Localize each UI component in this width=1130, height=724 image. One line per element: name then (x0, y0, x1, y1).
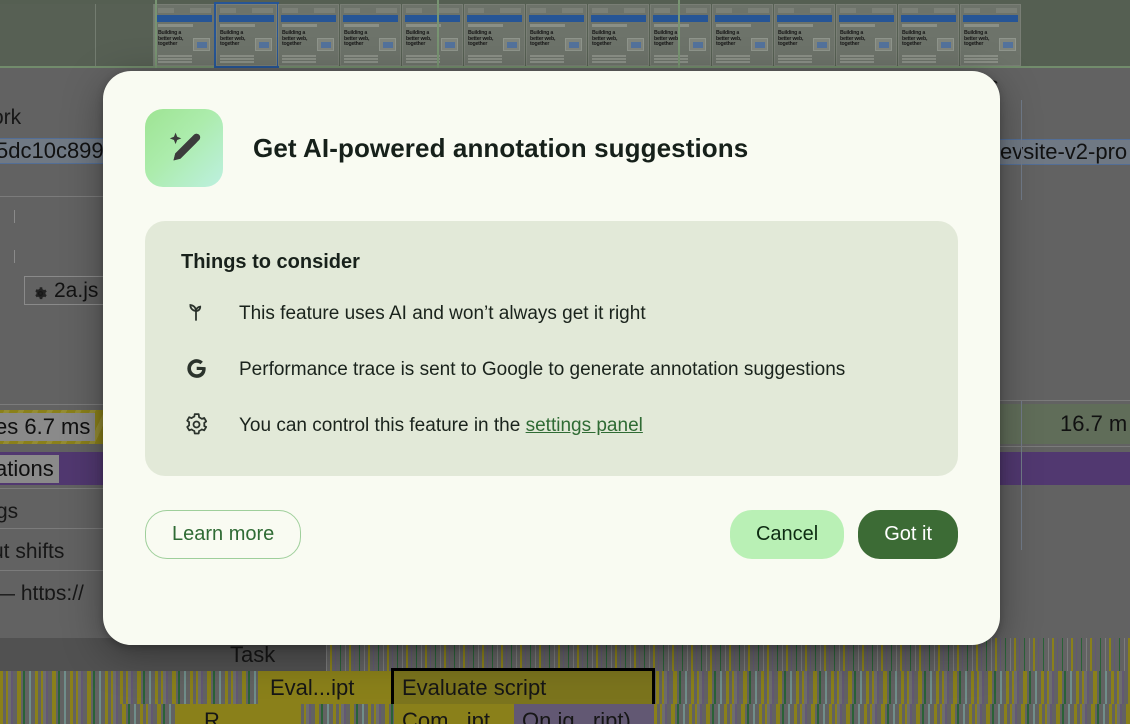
list-item-text: This feature uses AI and won’t always ge… (239, 298, 646, 330)
list-item-text: Performance trace is sent to Google to g… (239, 354, 845, 386)
list-item: This feature uses AI and won’t always ge… (181, 298, 922, 330)
list-item: Performance trace is sent to Google to g… (181, 354, 922, 386)
google-g-icon (181, 354, 211, 381)
list-item: You can control this feature in the sett… (181, 410, 922, 442)
card-heading: Things to consider (181, 251, 922, 274)
sprout-icon (181, 298, 211, 324)
list-item-text-before: You can control this feature in the (239, 415, 526, 436)
ai-pencil-sparkle-icon (145, 109, 223, 187)
things-to-consider-card: Things to consider This feature uses AI … (145, 221, 958, 476)
dialog-actions: Learn more Cancel Got it (145, 510, 958, 559)
dialog-header: Get AI-powered annotation suggestions (145, 109, 958, 187)
pencil-sparkle-glyph (161, 125, 207, 171)
ai-annotations-dialog: Get AI-powered annotation suggestions Th… (103, 71, 1000, 645)
cancel-button[interactable]: Cancel (730, 510, 844, 559)
gear-icon (181, 410, 211, 437)
settings-panel-link[interactable]: settings panel (526, 415, 643, 436)
learn-more-button[interactable]: Learn more (145, 510, 301, 559)
got-it-button[interactable]: Got it (858, 510, 958, 559)
page-title: Get AI-powered annotation suggestions (253, 133, 748, 164)
list-item-text: You can control this feature in the sett… (239, 410, 643, 442)
